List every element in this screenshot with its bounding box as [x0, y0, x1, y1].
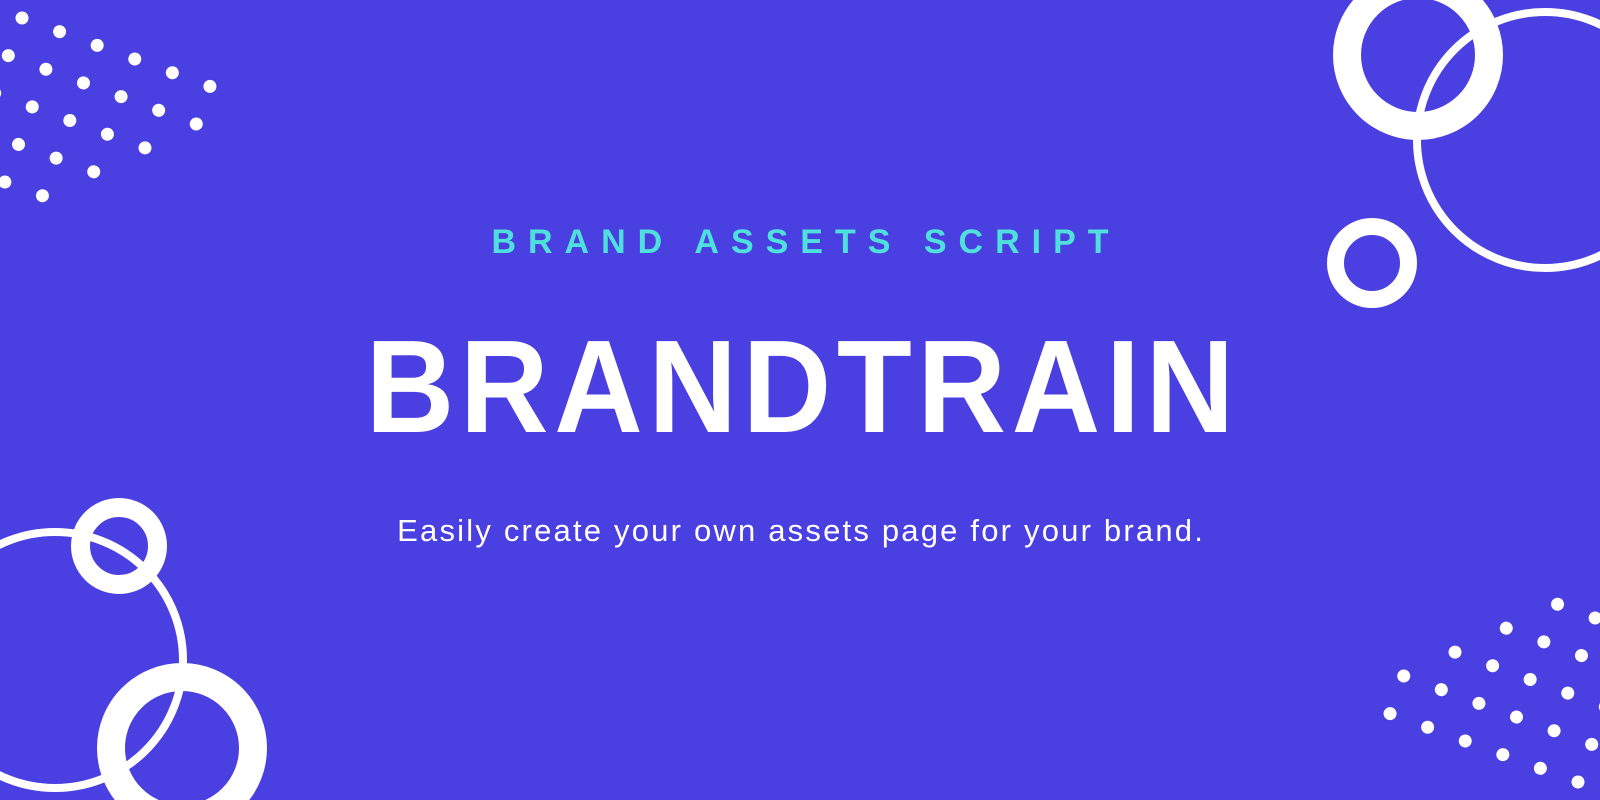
banner-eyebrow: BRAND ASSETS SCRIPT	[479, 225, 1120, 259]
banner-content: BRAND ASSETS SCRIPT BRANDTRAIN Easily cr…	[0, 0, 1600, 800]
banner-subtitle: Easily create your own assets page for y…	[395, 515, 1205, 546]
brand-banner: BRAND ASSETS SCRIPT BRANDTRAIN Easily cr…	[0, 0, 1600, 800]
banner-title: BRANDTRAIN	[360, 321, 1240, 453]
